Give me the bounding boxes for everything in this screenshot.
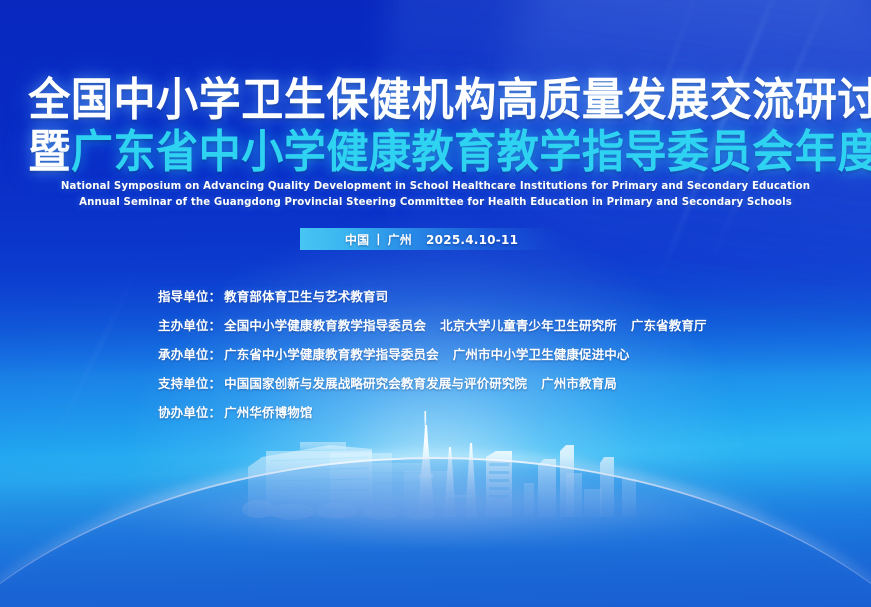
poster-subtitle-line-1: National Symposium on Advancing Quality … <box>13 178 858 194</box>
conference-poster: 全国中小学卫生保健机构高质量发展交流研讨活动 暨广东省中小学健康教育教学指导委员… <box>0 0 871 607</box>
organization-row-label: 协办单位： <box>158 402 221 421</box>
organization-row: 指导单位：教育部体育卫生与艺术教育司 <box>158 286 831 305</box>
venue-date-text: 中国丨广州2025.4.10-11 <box>345 231 518 248</box>
organization-row-values: 广州华侨博物馆 <box>224 402 312 421</box>
poster-title-block: 全国中小学卫生保健机构高质量发展交流研讨活动 暨广东省中小学健康教育教学指导委员… <box>0 76 871 175</box>
organization-name: 全国中小学健康教育教学指导委员会 <box>224 315 426 334</box>
organization-row: 协办单位：广州华侨博物馆 <box>158 402 831 421</box>
poster-title-line-1: 全国中小学卫生保健机构高质量发展交流研讨活动 <box>28 76 842 124</box>
poster-content: 全国中小学卫生保健机构高质量发展交流研讨活动 暨广东省中小学健康教育教学指导委员… <box>0 0 871 607</box>
venue-date: 2025.4.10-11 <box>426 233 518 247</box>
poster-subtitle-line-2: Annual Seminar of the Guangdong Provinci… <box>13 194 858 210</box>
organization-name: 广州市中小学卫生健康促进中心 <box>453 344 630 363</box>
organization-row-label: 指导单位： <box>158 286 221 305</box>
organization-row-values: 教育部体育卫生与艺术教育司 <box>224 286 388 305</box>
venue-separator: 丨 <box>372 233 384 247</box>
venue-country: 中国 <box>345 233 369 247</box>
organization-list: 指导单位：教育部体育卫生与艺术教育司主办单位：全国中小学健康教育教学指导委员会北… <box>158 286 831 431</box>
organization-name: 北京大学儿童青少年卫生研究所 <box>440 315 617 334</box>
organization-row-label: 承办单位： <box>158 344 221 363</box>
organization-row-label: 支持单位： <box>158 373 221 392</box>
organization-name: 中国国家创新与发展战略研究会教育发展与评价研究院 <box>224 373 527 392</box>
venue-date-badge: 中国丨广州2025.4.10-11 <box>300 228 563 250</box>
venue-city: 广州 <box>388 233 412 247</box>
organization-name: 广州华侨博物馆 <box>224 402 312 421</box>
poster-subtitle-block: National Symposium on Advancing Quality … <box>0 178 871 211</box>
organization-row-values: 广东省中小学健康教育教学指导委员会广州市中小学卫生健康促进中心 <box>224 344 629 363</box>
organization-name: 广东省教育厅 <box>631 315 707 334</box>
organization-row: 支持单位：中国国家创新与发展战略研究会教育发展与评价研究院广州市教育局 <box>158 373 831 392</box>
poster-title-line-2-lead: 暨 <box>28 125 71 178</box>
organization-row: 主办单位：全国中小学健康教育教学指导委员会北京大学儿童青少年卫生研究所广东省教育… <box>158 315 831 334</box>
organization-name: 广州市教育局 <box>541 373 617 392</box>
organization-name: 广东省中小学健康教育教学指导委员会 <box>224 344 439 363</box>
poster-title-line-2-rest: 广东省中小学健康教育教学指导委员会年度研讨活动 <box>71 125 871 178</box>
organization-row-values: 中国国家创新与发展战略研究会教育发展与评价研究院广州市教育局 <box>224 373 617 392</box>
organization-row-values: 全国中小学健康教育教学指导委员会北京大学儿童青少年卫生研究所广东省教育厅 <box>224 315 707 334</box>
organization-row-label: 主办单位： <box>158 315 221 334</box>
organization-name: 教育部体育卫生与艺术教育司 <box>224 286 388 305</box>
organization-row: 承办单位：广东省中小学健康教育教学指导委员会广州市中小学卫生健康促进中心 <box>158 344 831 363</box>
poster-title-line-2: 暨广东省中小学健康教育教学指导委员会年度研讨活动 <box>28 128 842 176</box>
